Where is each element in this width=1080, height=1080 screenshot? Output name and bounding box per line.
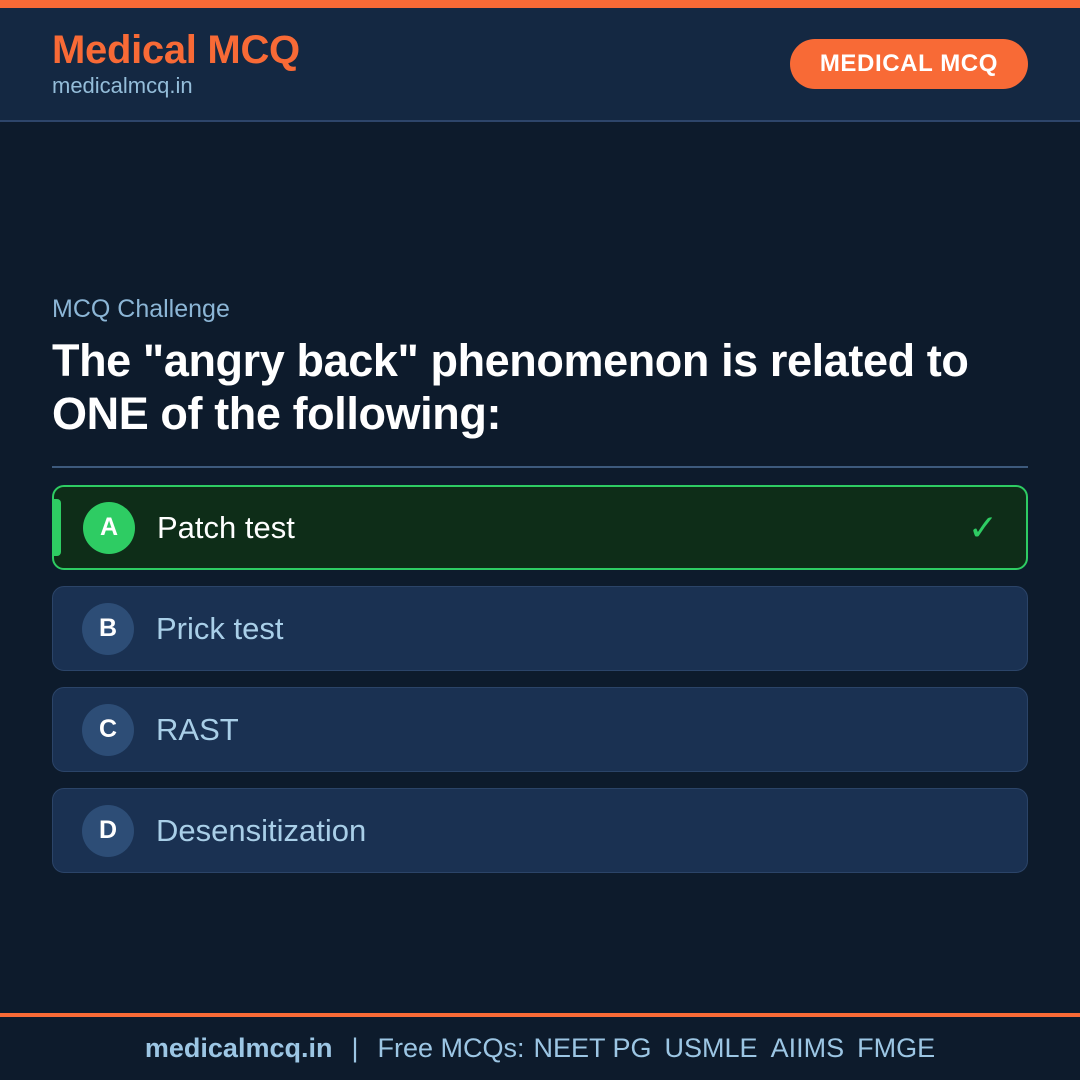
question-text: The "angry back" phenomenon is related t… — [52, 335, 1027, 440]
option-b[interactable]: B Prick test ✓ — [52, 586, 1028, 671]
option-a[interactable]: A Patch test ✓ — [52, 485, 1028, 570]
footer-text: medicalmcq.in | Free MCQs: NEET PG USMLE… — [145, 1035, 935, 1062]
footer-exam-usmle: USMLE — [665, 1035, 758, 1062]
check-icon: ✓ — [968, 510, 998, 546]
header-badge-pill: MEDICAL MCQ — [790, 39, 1028, 89]
footer-exam-fmge: FMGE — [857, 1035, 935, 1062]
footer-site: medicalmcq.in — [145, 1035, 333, 1062]
top-accent-bar — [0, 0, 1080, 8]
options-list: A Patch test ✓ B Prick test ✓ C RAST ✓ D… — [52, 485, 1028, 873]
option-c[interactable]: C RAST ✓ — [52, 687, 1028, 772]
footer-exam-neet-pg: NEET PG — [534, 1035, 652, 1062]
option-d-label: Desensitization — [156, 812, 969, 849]
brand-url: medicalmcq.in — [52, 73, 300, 98]
question-divider — [52, 466, 1028, 468]
option-c-label: RAST — [156, 711, 969, 748]
option-b-letter-badge: B — [82, 603, 134, 655]
option-d-letter-badge: D — [82, 805, 134, 857]
brand-title: Medical MCQ — [52, 29, 300, 71]
option-a-label: Patch test — [157, 509, 968, 546]
option-a-letter-badge: A — [83, 502, 135, 554]
brand-block: Medical MCQ medicalmcq.in — [52, 29, 300, 98]
footer-exam-aiims: AIIMS — [771, 1035, 845, 1062]
footer-bar: medicalmcq.in | Free MCQs: NEET PG USMLE… — [0, 1013, 1080, 1080]
eyebrow-label: MCQ Challenge — [52, 294, 1028, 324]
header-bar: Medical MCQ medicalmcq.in MEDICAL MCQ — [0, 8, 1080, 122]
main-content: MCQ Challenge The "angry back" phenomeno… — [0, 122, 1080, 1013]
footer-separator: | — [351, 1035, 358, 1062]
question-block: MCQ Challenge The "angry back" phenomeno… — [52, 294, 1028, 873]
option-b-label: Prick test — [156, 610, 969, 647]
option-d[interactable]: D Desensitization ✓ — [52, 788, 1028, 873]
mcq-card: Medical MCQ medicalmcq.in MEDICAL MCQ MC… — [0, 0, 1080, 1080]
footer-lead-label: Free MCQs: — [377, 1035, 524, 1062]
option-c-letter-badge: C — [82, 704, 134, 756]
